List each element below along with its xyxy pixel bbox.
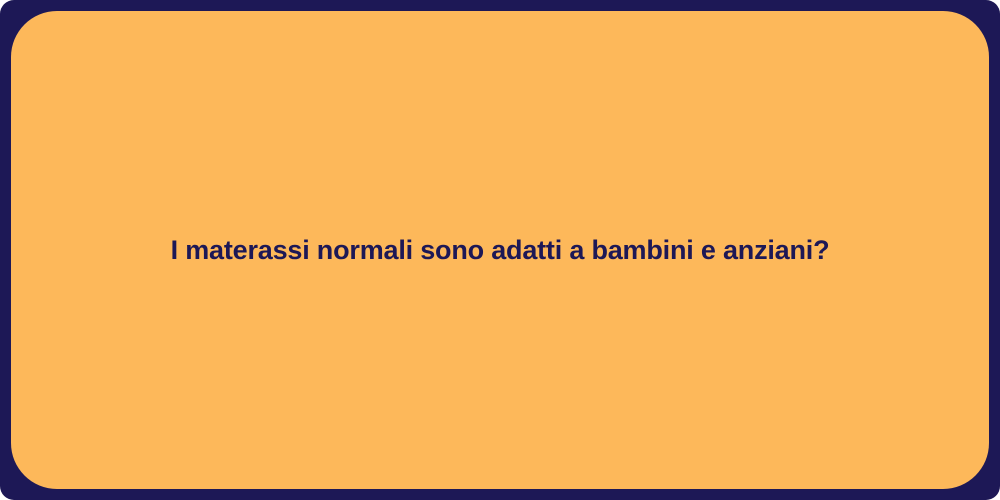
question-heading: I materassi normali sono adatti a bambin… — [171, 232, 830, 268]
question-card-panel: I materassi normali sono adatti a bambin… — [11, 11, 989, 489]
question-card-frame: I materassi normali sono adatti a bambin… — [0, 0, 1000, 500]
